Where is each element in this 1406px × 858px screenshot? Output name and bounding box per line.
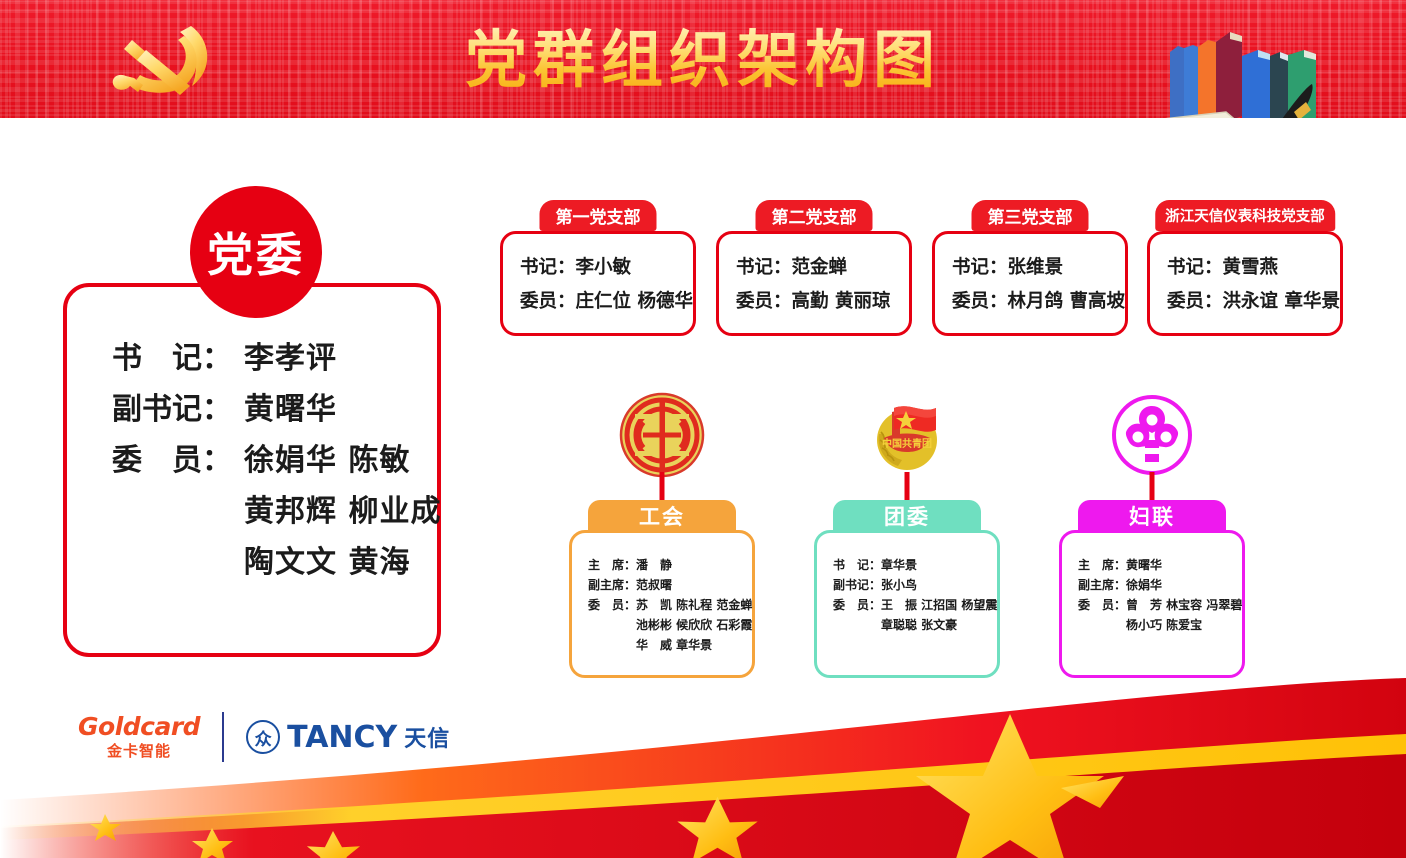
red-ribbon-gold-stars-icon [0, 678, 1406, 858]
org-title-tab: 团委 [833, 500, 981, 532]
party-committee-list: 书 记： 李孝评 副书记： 黄曙华 委 员： 徐娟华 陈敏 黄邦辉 柳业成 陶文… [112, 333, 419, 588]
org-row: 书 记：章华景 [833, 555, 997, 575]
org-body-box: 书 记：章华景 副书记：张小鸟 委 员：王 振 江招国 杨望震 章聪聪 张文豪 [814, 530, 1000, 678]
branch-row: 委员：高勤 黄丽琼 [736, 285, 909, 319]
books-and-pen-icon [1098, 12, 1348, 118]
party-committee-row: 副书记： 黄曙华 [112, 384, 419, 435]
branch-row: 委员：林月鸽 曹高坡 [952, 285, 1125, 319]
org-title-tab: 工会 [588, 500, 736, 532]
goldcard-logo: Goldcard 金卡智能 [78, 714, 200, 761]
tancy-logo-cn: 天信 [404, 721, 450, 753]
tancy-logo-en: TANCY [287, 720, 397, 755]
branch-row: 书记：张维景 [952, 251, 1125, 285]
row-value: 徐娟华 陈敏 [244, 435, 410, 486]
org-row: 章聪聪 张文豪 [833, 615, 997, 635]
branch-title: 第一党支部 [540, 200, 657, 231]
org-card-labor-union: 工会 主 席：潘 静 副主席：范叔曙 委 员：苏 凯 陈礼程 范金蝉 池彬彬 候… [569, 392, 755, 678]
org-row: 副主席：徐娟华 [1078, 575, 1242, 595]
org-row: 委 员：曾 芳 林宝容 冯翠碧 [1078, 595, 1242, 615]
party-committee-badge-label: 党委 [207, 219, 305, 285]
org-title: 团委 [884, 501, 930, 531]
branch-card-1: 第一党支部 书记：李小敏 委员：庄仁位 杨德华 [500, 231, 696, 336]
branch-card-4: 浙江天信仪表科技党支部 书记：黄雪燕 委员：洪永谊 章华景 [1147, 231, 1343, 336]
party-committee-row: 委 员： 徐娟华 陈敏 [112, 435, 419, 486]
party-committee-row: 书 记： 李孝评 [112, 333, 419, 384]
row-value: 黄邦辉 柳业成 [244, 486, 441, 537]
row-value: 李孝评 [244, 333, 337, 384]
poster-header: 党群组织架构图 [0, 0, 1406, 118]
org-card-womens-federation: 妇联 主 席：黄曙华 副主席：徐娟华 委 员：曾 芳 林宝容 冯翠碧 杨小巧 陈… [1059, 392, 1245, 678]
org-row: 杨小巧 陈爱宝 [1078, 615, 1242, 635]
labor-union-emblem-icon [619, 392, 705, 478]
branch-row: 委员：庄仁位 杨德华 [520, 285, 693, 319]
communist-youth-league-emblem-icon: 中国共青团 [864, 392, 950, 478]
party-committee-row: 黄邦辉 柳业成 [112, 486, 419, 537]
org-member-list: 主 席：黄曙华 副主席：徐娟华 委 员：曾 芳 林宝容 冯翠碧 杨小巧 陈爱宝 [1062, 533, 1242, 635]
branch-card-2: 第二党支部 书记：范金蝉 委员：高勤 黄丽琼 [716, 231, 912, 336]
org-row: 委 员：苏 凯 陈礼程 范金蝉 [588, 595, 752, 615]
row-value: 黄曙华 [244, 384, 337, 435]
tancy-logo: 众 TANCY 天信 [246, 720, 450, 755]
logo-divider [222, 712, 224, 762]
org-card-youth-league: 中国共青团 团委 书 记：章华景 副书记：张小鸟 委 员：王 振 江招国 杨望震… [814, 392, 1000, 678]
branch-row: 书记：李小敏 [520, 251, 693, 285]
org-body-box: 主 席：潘 静 副主席：范叔曙 委 员：苏 凯 陈礼程 范金蝉 池彬彬 候欣欣 … [569, 530, 755, 678]
org-title-tab: 妇联 [1078, 500, 1226, 532]
branch-title: 浙江天信仪表科技党支部 [1155, 200, 1335, 231]
branch-row: 书记：范金蝉 [736, 251, 909, 285]
poster-root: 党群组织架构图 [0, 0, 1406, 858]
org-row: 华 威 章华景 [588, 635, 752, 655]
row-label: 副书记： [112, 384, 244, 435]
org-body-box: 主 席：黄曙华 副主席：徐娟华 委 员：曾 芳 林宝容 冯翠碧 杨小巧 陈爱宝 [1059, 530, 1245, 678]
party-committee-row: 陶文文 黄海 [112, 537, 419, 588]
goldcard-logo-cn: 金卡智能 [107, 740, 171, 761]
org-row: 池彬彬 候欣欣 石彩霞 [588, 615, 752, 635]
branch-body: 书记：范金蝉 委员：高勤 黄丽琼 [719, 234, 909, 319]
branch-body: 书记：张维景 委员：林月鸽 曹高坡 [935, 234, 1125, 319]
tancy-mark-icon: 众 [246, 720, 280, 754]
org-row: 委 员：王 振 江招国 杨望震 [833, 595, 997, 615]
branch-row: 委员：洪永谊 章华景 [1167, 285, 1340, 319]
branch-title: 第二党支部 [756, 200, 873, 231]
connector-stem [905, 472, 910, 500]
party-committee-card: 书 记： 李孝评 副书记： 黄曙华 委 员： 徐娟华 陈敏 黄邦辉 柳业成 陶文… [63, 283, 441, 657]
org-row: 主 席：潘 静 [588, 555, 752, 575]
org-member-list: 主 席：潘 静 副主席：范叔曙 委 员：苏 凯 陈礼程 范金蝉 池彬彬 候欣欣 … [572, 533, 752, 655]
org-title: 妇联 [1129, 501, 1175, 531]
row-label: 书 记： [112, 333, 244, 384]
connector-stem [660, 472, 665, 500]
org-member-list: 书 记：章华景 副书记：张小鸟 委 员：王 振 江招国 杨望震 章聪聪 张文豪 [817, 533, 997, 635]
branch-row: 书记：黄雪燕 [1167, 251, 1340, 285]
svg-text:中国共青团: 中国共青团 [882, 437, 932, 450]
org-row: 副主席：范叔曙 [588, 575, 752, 595]
branch-body: 书记：李小敏 委员：庄仁位 杨德华 [503, 234, 693, 319]
row-label: 委 员： [112, 435, 244, 486]
branch-title: 第三党支部 [972, 200, 1089, 231]
party-committee-badge: 党委 [190, 186, 322, 318]
row-value: 陶文文 黄海 [244, 537, 410, 588]
branch-card-3: 第三党支部 书记：张维景 委员：林月鸽 曹高坡 [932, 231, 1128, 336]
branch-body: 书记：黄雪燕 委员：洪永谊 章华景 [1150, 234, 1340, 319]
org-row: 副书记：张小鸟 [833, 575, 997, 595]
org-row: 主 席：黄曙华 [1078, 555, 1242, 575]
connector-stem [1150, 472, 1155, 500]
org-title: 工会 [639, 501, 685, 531]
footer-logos: Goldcard 金卡智能 众 TANCY 天信 [78, 712, 450, 762]
goldcard-logo-en: Goldcard [78, 714, 200, 740]
womens-federation-emblem-icon [1109, 392, 1195, 478]
